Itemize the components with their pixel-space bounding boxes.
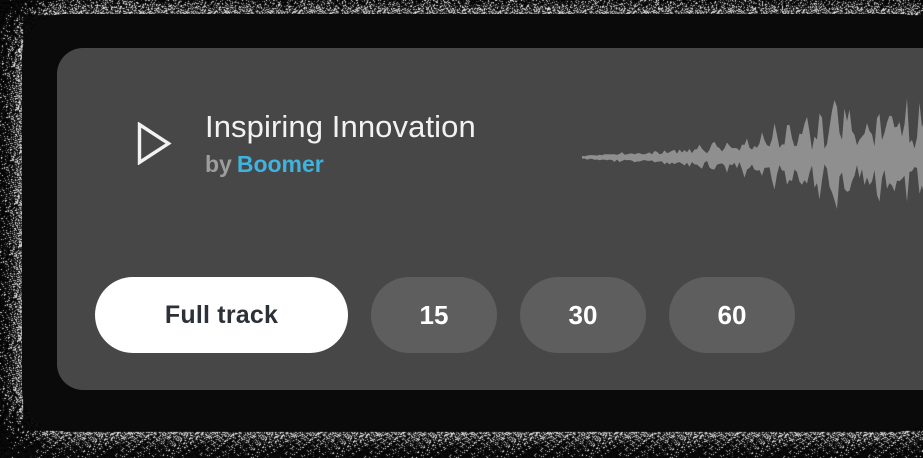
track-byline: byBoomer <box>205 152 476 177</box>
byline-prefix: by <box>205 151 232 177</box>
duration-option-group: Full track 15 30 60 <box>95 277 795 353</box>
player-card-stage: Inspiring Innovation byBoomer Full track… <box>0 0 923 458</box>
duration-option-full-track[interactable]: Full track <box>95 277 348 353</box>
track-metadata: Inspiring Innovation byBoomer <box>205 110 476 177</box>
play-triangle-outline-icon[interactable] <box>136 118 180 170</box>
track-title: Inspiring Innovation <box>205 110 476 145</box>
duration-option-15[interactable]: 15 <box>371 277 497 353</box>
duration-option-30[interactable]: 30 <box>520 277 646 353</box>
duration-option-60[interactable]: 60 <box>669 277 795 353</box>
track-header-row: Inspiring Innovation byBoomer <box>136 110 476 177</box>
artist-name-link[interactable]: Boomer <box>237 151 324 177</box>
waveform-container[interactable] <box>582 96 923 214</box>
audio-track-card: Inspiring Innovation byBoomer Full track… <box>57 48 923 390</box>
